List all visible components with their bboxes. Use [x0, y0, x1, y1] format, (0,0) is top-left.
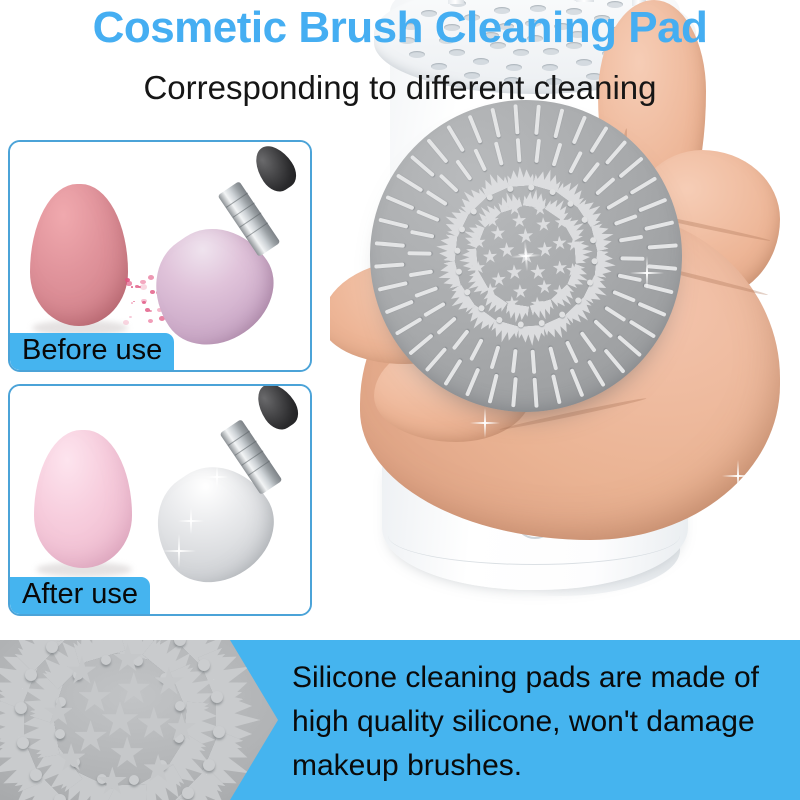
pad-radial-dash: [385, 195, 414, 210]
pad-radial-dash: [474, 148, 488, 171]
pad-radial-dash: [604, 305, 626, 321]
macro-dot: [25, 669, 37, 681]
pad-crown-shape: [533, 166, 564, 192]
brush-dirty: [150, 146, 310, 366]
pad-radial-dash: [395, 317, 423, 336]
pad-dot: [590, 237, 596, 243]
pad-radial-dash: [490, 107, 501, 137]
pad-radial-dash: [416, 209, 440, 222]
macro-star-shape: [137, 707, 171, 741]
page-title: Cosmetic Brush Cleaning Pad: [0, 2, 800, 54]
pad-radial-dash: [384, 300, 413, 315]
pad-radial-dash: [408, 252, 432, 256]
pad-crown-shape: [594, 250, 617, 278]
banner-text: Silicone cleaning pads are made of high …: [292, 656, 782, 788]
powder-speck: [129, 316, 132, 318]
pad-radial-dash: [572, 115, 587, 144]
macro-dot: [129, 775, 139, 785]
macro-dot: [175, 701, 185, 711]
banner-line: Silicone cleaning pads are made of: [292, 656, 782, 700]
pad-radial-dash: [568, 151, 583, 174]
powder-speck: [123, 320, 129, 325]
pad-radial-dash: [465, 368, 480, 397]
pad-radial-dash: [533, 378, 539, 408]
pad-dot: [507, 186, 513, 192]
pad-dot: [487, 194, 493, 200]
pad-radial-dash: [414, 286, 438, 298]
pad-star: [529, 263, 546, 280]
pad-radial-dash: [620, 256, 644, 260]
pad-dot: [586, 279, 592, 285]
pad-crown-shape: [436, 260, 462, 290]
card-label-after: After use: [10, 577, 150, 614]
pad-radial-dash: [548, 346, 558, 370]
powder-speck: [145, 308, 150, 312]
pad-radial-dash: [605, 140, 628, 165]
card-label-before: Before use: [10, 333, 174, 370]
powder-speck: [140, 280, 145, 284]
pad-radial-dash: [425, 347, 448, 372]
pad-star: [506, 264, 523, 281]
brush-handle-cap: [247, 140, 302, 197]
pad-radial-dash: [638, 197, 667, 212]
pad-radial-dash: [377, 281, 407, 292]
pad-crown-shape: [496, 189, 522, 213]
pad-radial-dash: [552, 143, 563, 167]
pad-radial-dash: [515, 138, 521, 162]
pad-radial-dash: [451, 329, 469, 350]
sponge-clean: [34, 430, 132, 568]
powder-speck: [126, 281, 131, 285]
pad-radial-dash: [593, 319, 613, 338]
pad-crown-shape: [505, 303, 529, 324]
brush-handle-cap: [249, 384, 304, 435]
brush-clean: [150, 388, 310, 608]
pad-radial-dash: [494, 141, 504, 165]
pad-radial-dash: [589, 126, 608, 154]
pad-radial-dash: [583, 162, 601, 183]
banner-line: makeup brushes.: [292, 744, 782, 788]
pad-star: [536, 241, 553, 258]
comparison-card-before: Before use: [8, 140, 312, 372]
pad-radial-dash: [410, 230, 434, 239]
pad-radial-dash: [638, 302, 667, 317]
pad-crown-shape: [489, 320, 520, 346]
powder-speck: [131, 286, 133, 288]
pad-radial-dash: [444, 358, 463, 386]
pad-star: [517, 247, 535, 265]
pad-radial-dash: [551, 374, 562, 404]
pad-crown-shape: [591, 222, 617, 252]
pad-radial-dash: [470, 338, 485, 361]
pad-radial-dash: [606, 194, 629, 210]
pad-radial-dash: [644, 284, 674, 295]
pad-radial-dash: [628, 319, 656, 338]
macro-dot: [15, 702, 27, 714]
pad-radial-dash: [554, 108, 565, 138]
pad-radial-dash: [595, 177, 616, 196]
pad-star: [552, 260, 568, 276]
pad-radial-dash: [511, 377, 518, 407]
pad-radial-dash: [570, 368, 585, 397]
macro-dot: [54, 794, 66, 800]
pad-radial-dash: [603, 348, 625, 374]
pad-star: [498, 242, 515, 259]
pad-radial-dash: [487, 374, 498, 404]
pad-radial-dash: [614, 214, 638, 226]
macro-dot: [55, 729, 65, 739]
powder-speck: [142, 301, 146, 304]
pad-radial-dash: [423, 302, 446, 318]
pad-radial-dash: [618, 235, 642, 243]
pad-radial-dash: [490, 345, 501, 369]
pad-star: [482, 249, 498, 265]
powder-speck: [131, 302, 133, 304]
bottom-banner: Silicone cleaning pads are made of high …: [0, 640, 800, 800]
pad-radial-dash: [378, 217, 408, 228]
macro-dot: [198, 659, 210, 671]
macro-dot: [46, 641, 58, 653]
pad-radial-dash: [618, 273, 642, 282]
pad-radial-dash: [535, 139, 542, 163]
pad-dot: [464, 289, 470, 295]
page-subtitle: Corresponding to different cleaning: [0, 66, 800, 110]
macro-star-shape: [110, 736, 144, 770]
pad-radial-dash: [467, 114, 482, 143]
pad-radial-dash: [617, 335, 642, 358]
pad-radial-dash: [439, 173, 459, 192]
pad-radial-dash: [618, 157, 644, 179]
pad-radial-dash: [511, 349, 518, 373]
pad-radial-dash: [408, 333, 434, 355]
banner-line: high quality silicone, won't damage: [292, 700, 782, 744]
pad-star: [536, 279, 552, 295]
pad-radial-dash: [396, 174, 424, 193]
macro-star-shape: [117, 672, 151, 706]
comparison-card-after: After use: [8, 384, 312, 616]
pad-star: [511, 213, 527, 229]
powder-speck: [140, 284, 147, 290]
pad-radial-dash: [410, 155, 435, 178]
pad-radial-dash: [427, 138, 449, 164]
pad-radial-dash: [647, 265, 677, 272]
pad-crown-shape: [522, 188, 546, 209]
pad-radial-dash: [409, 269, 433, 277]
macro-star-shape: [78, 680, 112, 714]
pad-radial-dash: [374, 263, 404, 269]
sponge-dirty: [30, 184, 128, 326]
pad-star: [552, 235, 568, 251]
pad-dot: [549, 189, 555, 195]
macro-star-shape: [74, 720, 108, 754]
pad-radial-dash: [564, 340, 578, 363]
product-image-canvas: Cosmetic Brush Cleaning Pad Correspondin…: [0, 0, 800, 800]
macro-dot: [17, 737, 29, 749]
pad-radial-dash: [374, 241, 404, 248]
pad-dot: [528, 184, 534, 190]
macro-dot: [101, 655, 111, 665]
pad-dot: [496, 316, 502, 322]
pad-radial-dash: [648, 243, 678, 249]
macro-caption: close-up macro of silicone pad texture: [0, 0, 1, 1]
pad-radial-dash: [446, 125, 465, 153]
pad-star: [491, 272, 507, 288]
pad-radial-dash: [579, 331, 596, 353]
pad-radial-dash: [531, 350, 537, 374]
pad-dot: [582, 217, 588, 223]
pad-dot: [470, 208, 476, 214]
pad-radial-dash: [644, 220, 674, 231]
pad-star: [490, 225, 506, 241]
pad-crown-shape: [518, 325, 545, 347]
pad-radial-dash: [455, 159, 472, 181]
pad-radial-dash: [426, 190, 448, 206]
pad-star: [517, 227, 534, 244]
pad-dot: [568, 200, 574, 206]
pad-dot: [478, 305, 484, 311]
pad-radial-dash: [612, 290, 636, 303]
pad-radial-dash: [587, 360, 606, 388]
pad-dot: [454, 247, 460, 253]
pad-star: [512, 284, 528, 300]
pad-star: [536, 217, 552, 233]
pad-crown-shape: [458, 249, 478, 272]
pad-radial-dash: [630, 176, 658, 195]
pad-dot: [456, 269, 462, 275]
macro-dot: [30, 769, 42, 781]
pad-radial-dash: [436, 316, 457, 335]
macro-star-shape: [101, 701, 139, 739]
